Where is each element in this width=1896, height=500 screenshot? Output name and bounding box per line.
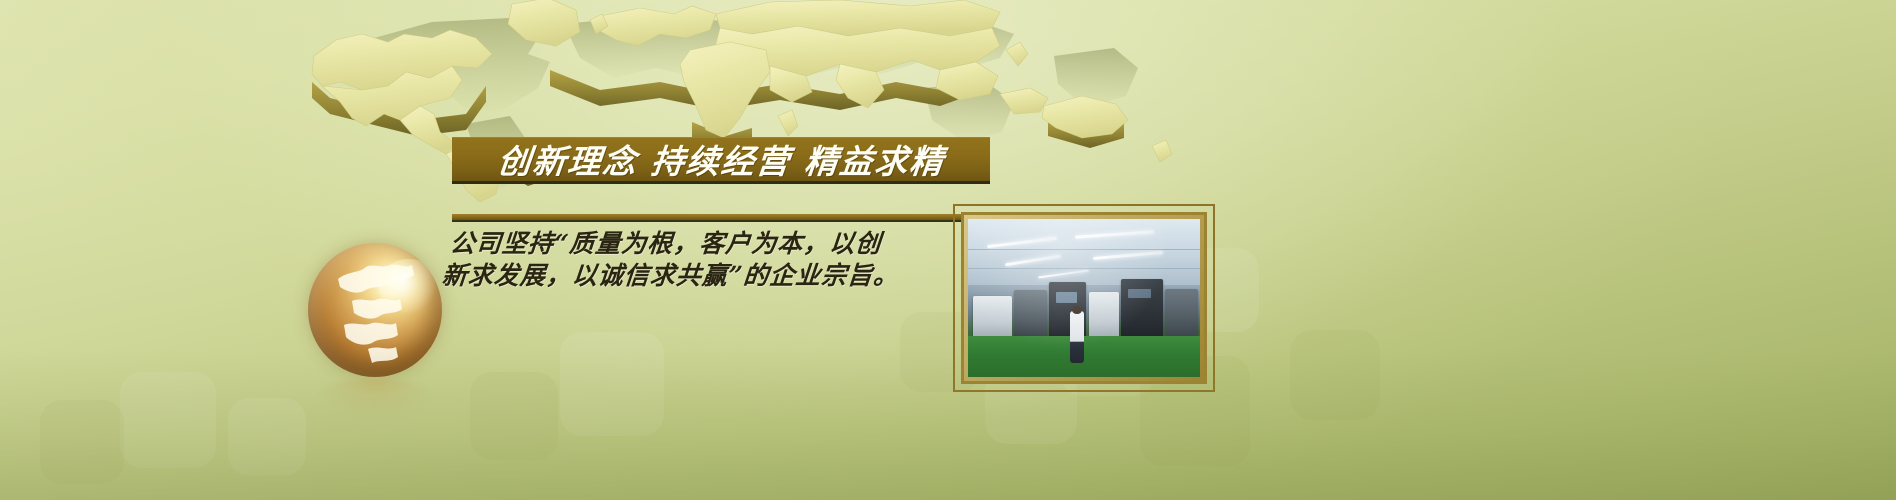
factory-photo xyxy=(968,219,1200,377)
photo-ceiling-light xyxy=(987,237,1056,248)
photo-machine xyxy=(1121,279,1163,345)
photo-ceiling-light xyxy=(1005,254,1060,266)
headline-underline-rule xyxy=(452,214,1010,220)
decor-square xyxy=(228,398,306,476)
photo-glare xyxy=(968,219,1200,377)
photo-machine xyxy=(973,296,1012,340)
photo-machine xyxy=(1089,292,1119,343)
photo-machine xyxy=(1014,290,1046,342)
photo-floor xyxy=(968,336,1200,377)
photo-ceiling xyxy=(968,219,1200,285)
motto-line-1: 公司坚持“质量为根，客户为本，以创 xyxy=(449,228,952,260)
photo-ceiling-beam xyxy=(968,249,1200,250)
photo-machine xyxy=(1165,289,1197,344)
headline-banner-bar: 创新理念 持续经营 精益求精 xyxy=(452,137,990,181)
globe-continents-icon xyxy=(308,243,442,377)
photo-worker-head xyxy=(1072,306,1081,314)
photo-ceiling-light xyxy=(1038,269,1089,278)
photo-ceiling-light xyxy=(1093,251,1163,260)
headline-text: 创新理念 持续经营 精益求精 xyxy=(495,137,947,181)
photo-worker xyxy=(1070,311,1084,363)
photo-ceiling-light xyxy=(1075,230,1154,238)
factory-photo-frame xyxy=(953,204,1215,392)
decor-square xyxy=(120,372,216,468)
decor-square xyxy=(40,400,124,484)
decor-square xyxy=(1290,330,1380,420)
motto-line-2: 新求发展，以诚信求共赢”的企业宗旨。 xyxy=(441,260,952,292)
photo-machine xyxy=(1049,282,1086,344)
photo-ceiling-beam xyxy=(968,268,1200,269)
globe-graphic xyxy=(308,243,454,395)
factory-photo-frame-inner xyxy=(961,212,1207,384)
company-culture-banner: 创新理念 持续经营 精益求精 公司坚持“质量为根，客户为本，以创 新求发展，以诚… xyxy=(0,0,1896,500)
photo-machine-panel xyxy=(1056,292,1077,303)
company-motto-paragraph: 公司坚持“质量为根，客户为本，以创 新求发展，以诚信求共赢”的企业宗旨。 xyxy=(450,228,950,292)
decor-square xyxy=(560,332,664,436)
globe-reflection xyxy=(314,379,436,419)
photo-machine-panel xyxy=(1128,289,1151,298)
globe-sphere xyxy=(308,243,442,377)
decor-square xyxy=(470,372,558,460)
bottom-vignette xyxy=(0,350,1896,500)
